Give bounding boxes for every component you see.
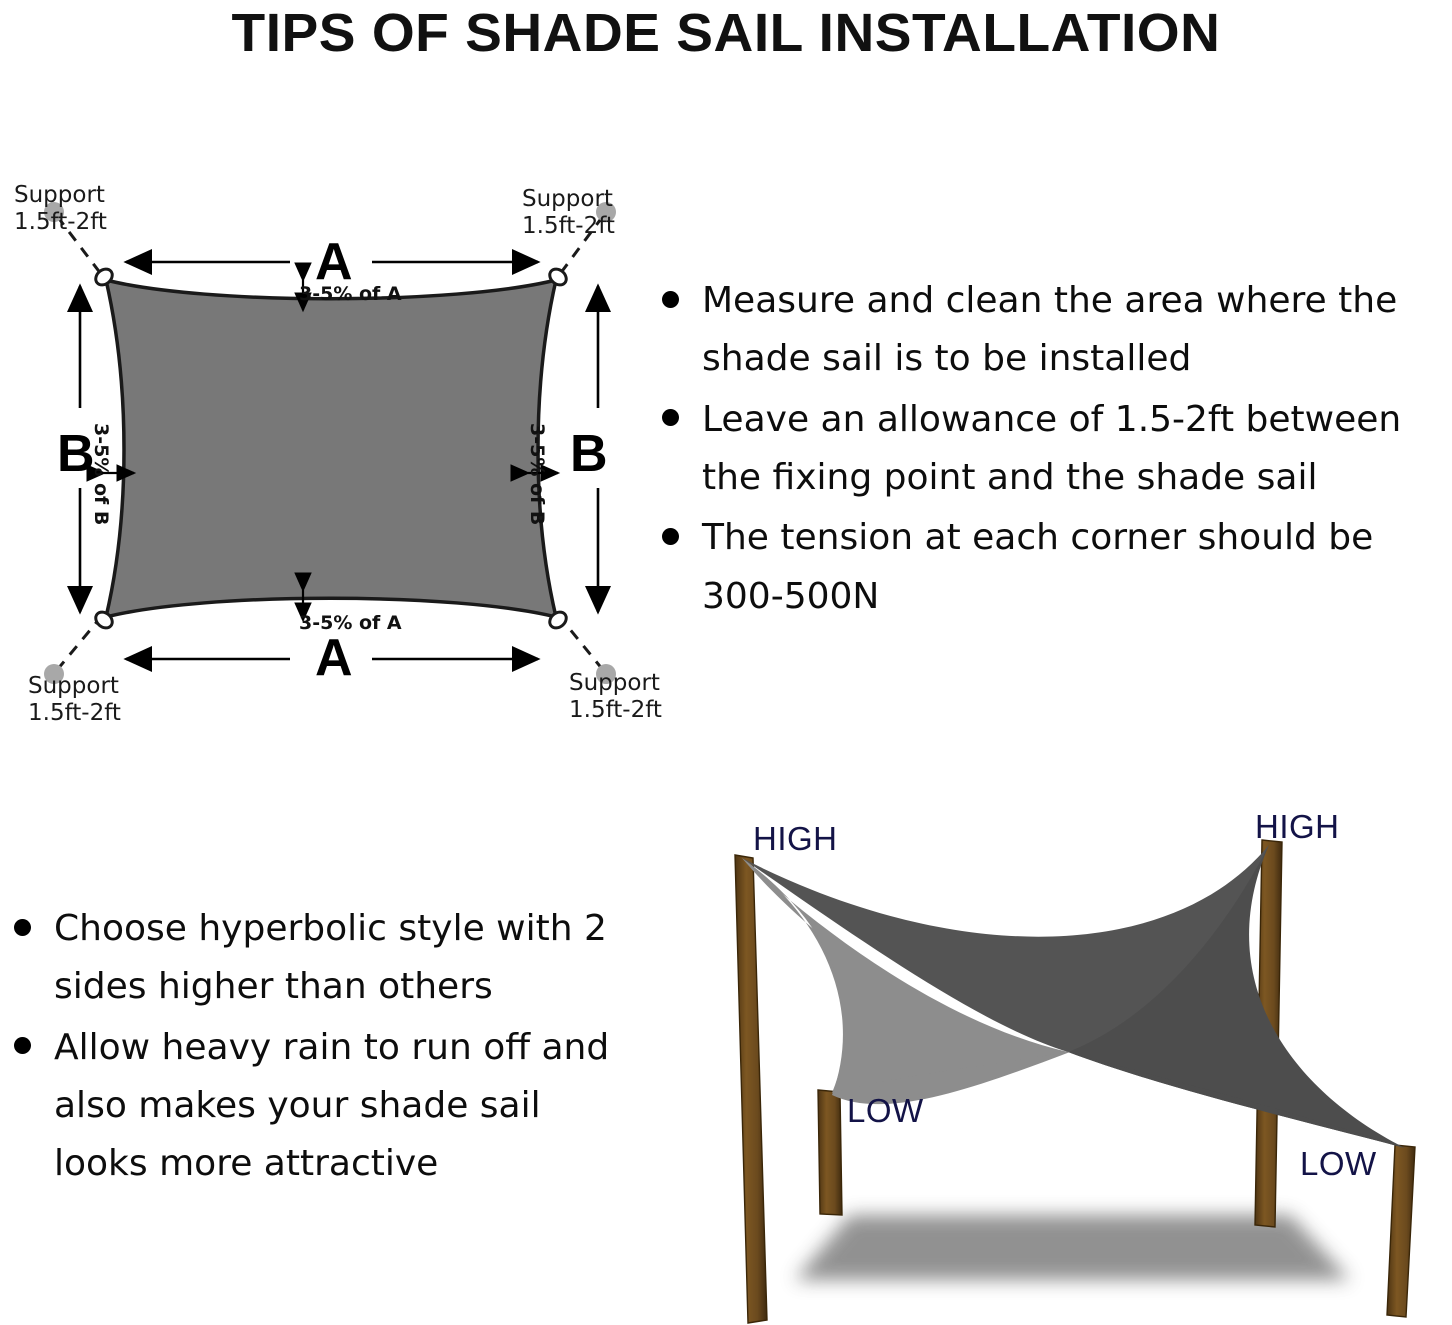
support-label-bottom-left: Support 1.5ft-2ft	[28, 673, 121, 727]
support-label-top-right: Support 1.5ft-2ft	[522, 186, 615, 240]
support-label-top-left: Support 1.5ft-2ft	[14, 182, 107, 236]
curve-allowance-top: 3-5% of A	[299, 283, 402, 305]
infographic-page: TIPS OF SHADE SAIL INSTALLATION	[0, 0, 1452, 1325]
dimension-letter-a-bottom: A	[315, 628, 353, 688]
list-item-label: Choose hyperbolic style with 2 sides hig…	[54, 908, 607, 1007]
installation-tips-list: Measure and clean the area where the sha…	[648, 272, 1452, 628]
post-low-left	[818, 1090, 842, 1215]
bullet-dot-icon	[14, 1037, 31, 1054]
curve-allowance-right: 3-5% of B	[526, 423, 548, 525]
label-low-left-text: LOW	[847, 1092, 924, 1130]
page-title: TIPS OF SHADE SAIL INSTALLATION	[0, 2, 1452, 64]
bullet-dot-icon	[14, 919, 31, 936]
dimension-letter-b-left: B	[57, 424, 95, 484]
support-label-bottom-right: Support 1.5ft-2ft	[569, 670, 662, 724]
bullet-dot-icon	[662, 291, 679, 308]
label-low-right-text: LOW	[1300, 1145, 1377, 1183]
list-item: Choose hyperbolic style with 2 sides hig…	[0, 900, 640, 1017]
list-item-label: Allow heavy rain to run off and also mak…	[54, 1027, 609, 1185]
list-item: Allow heavy rain to run off and also mak…	[0, 1019, 640, 1194]
list-item-label: Leave an allowance of 1.5-2ft between th…	[702, 399, 1401, 498]
label-high-right-text: HIGH	[1255, 808, 1340, 846]
post-high-left	[735, 855, 767, 1323]
label-high-left-text: HIGH	[753, 820, 838, 858]
bullet-dot-icon	[662, 409, 679, 426]
list-item: Leave an allowance of 1.5-2ft between th…	[648, 391, 1452, 508]
hyperbolic-sail-diagram: HIGH HIGH LOW LOW	[650, 790, 1452, 1325]
list-item: The tension at each corner should be 300…	[648, 509, 1452, 626]
curve-allowance-bottom: 3-5% of A	[299, 612, 402, 634]
bullet-dot-icon	[662, 528, 679, 545]
dimension-letter-b-right: B	[570, 424, 608, 484]
curve-allowance-left: 3-5% of B	[90, 423, 112, 525]
list-item-label: Measure and clean the area where the sha…	[702, 280, 1397, 379]
sail-shape	[106, 280, 556, 617]
list-item: Measure and clean the area where the sha…	[648, 272, 1452, 389]
post-low-right	[1387, 1145, 1415, 1317]
hyperbolic-tips-list: Choose hyperbolic style with 2 sides hig…	[0, 900, 640, 1196]
list-item-label: The tension at each corner should be 300…	[702, 517, 1373, 616]
